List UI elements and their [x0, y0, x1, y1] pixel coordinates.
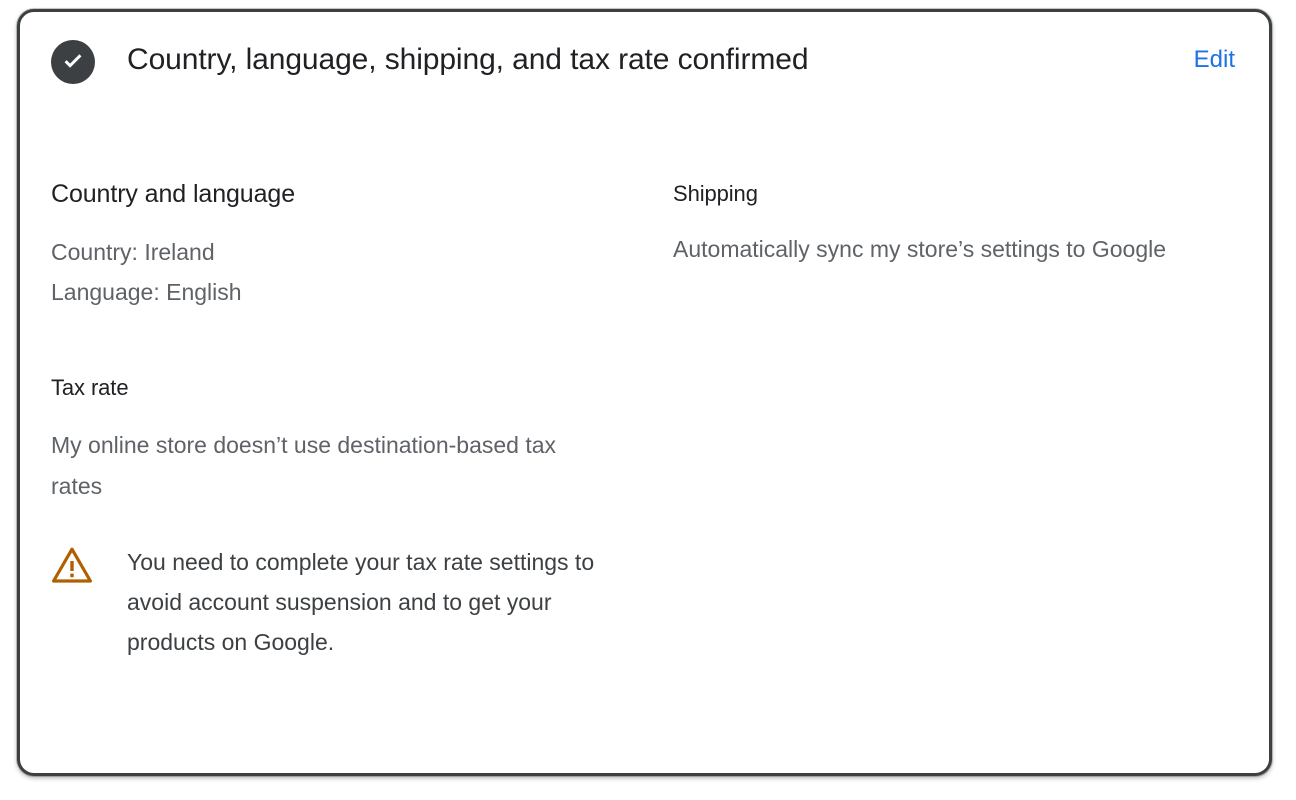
- country-language-heading: Country and language: [51, 178, 673, 210]
- card-body: Country and language Country: Ireland La…: [51, 178, 1238, 757]
- shipping-heading: Shipping: [673, 180, 1238, 208]
- tax-rate-description: My online store doesn’t use destination-…: [51, 425, 581, 507]
- warning-message: You need to complete your tax rate setti…: [127, 542, 627, 662]
- language-value: Language: English: [51, 272, 673, 312]
- tax-rate-heading: Tax rate: [51, 374, 1238, 402]
- edit-button[interactable]: Edit: [1192, 41, 1237, 79]
- country-value: Country: Ireland: [51, 232, 673, 272]
- check-circle-icon: [51, 40, 95, 84]
- warning-triangle-icon: [51, 546, 93, 584]
- shipping-section: Shipping Automatically sync my store’s s…: [673, 178, 1238, 270]
- card-header: Country, language, shipping, and tax rat…: [20, 12, 1269, 108]
- country-language-section: Country and language Country: Ireland La…: [51, 178, 673, 312]
- details-columns: Country and language Country: Ireland La…: [51, 178, 1238, 312]
- confirmation-card: Country, language, shipping, and tax rat…: [17, 9, 1272, 776]
- shipping-description: Automatically sync my store’s settings t…: [673, 229, 1213, 270]
- tax-rate-warning: You need to complete your tax rate setti…: [51, 542, 1238, 662]
- page-title: Country, language, shipping, and tax rat…: [127, 41, 1176, 79]
- screen-root: Country, language, shipping, and tax rat…: [0, 0, 1296, 800]
- tax-rate-section: Tax rate My online store doesn’t use des…: [51, 374, 1238, 662]
